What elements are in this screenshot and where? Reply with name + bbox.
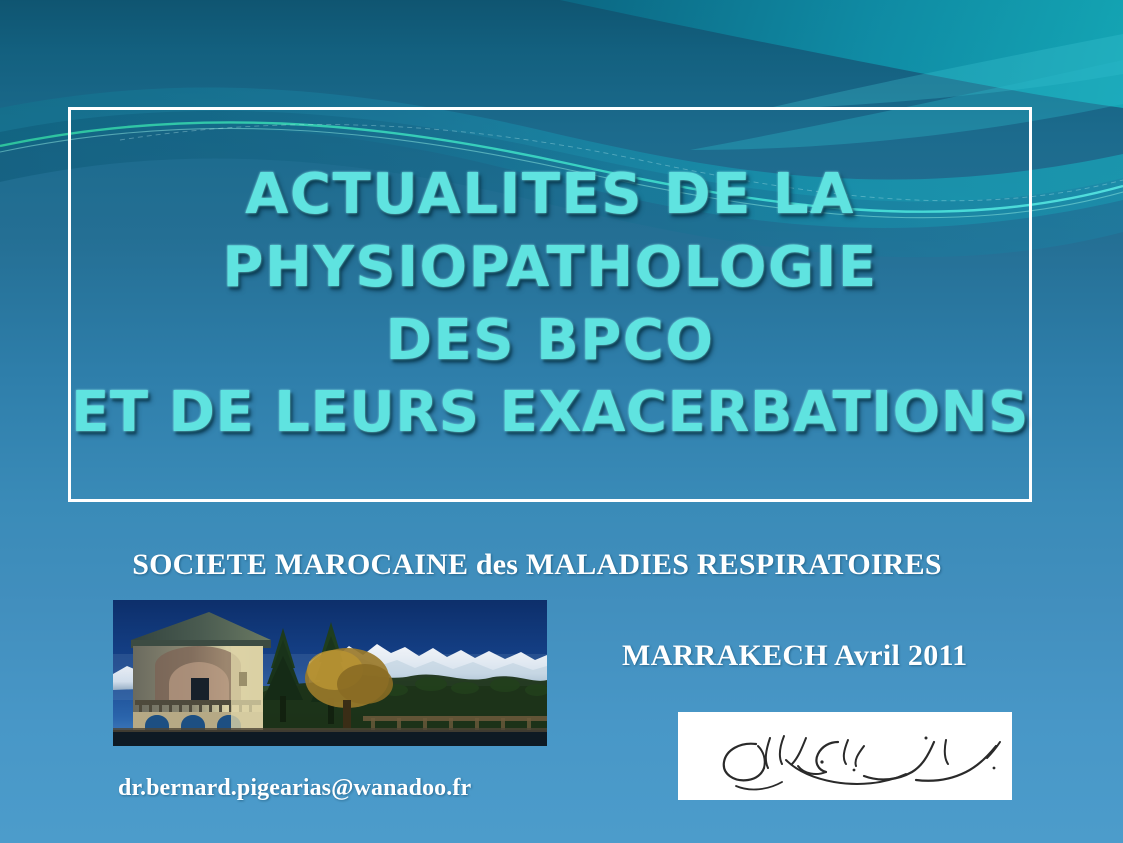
wave-shape-top-right [560, 0, 1123, 108]
arabic-signature-box [678, 712, 1012, 800]
title-frame: ACTUALITES DE LA PHYSIOPATHOLOGIE DES BP… [68, 107, 1032, 502]
contact-email: dr.bernard.pigearias@wanadoo.fr [118, 775, 471, 802]
title-line-3: DES BPCO [386, 305, 715, 378]
society-name: SOCIETE MAROCAINE des MALADIES RESPIRATO… [0, 548, 1074, 582]
wave-shape-right-highlight [760, 34, 1123, 110]
title-line-4: ET DE LEURS EXACERBATIONS [71, 377, 1029, 450]
marrakech-photo [113, 600, 547, 746]
arabic-signature-graphic [678, 712, 1012, 800]
title-line-1: ACTUALITES DE LA [245, 159, 855, 232]
location-date: MARRAKECH Avril 2011 [622, 639, 967, 673]
title-line-2: PHYSIOPATHOLOGIE [222, 232, 877, 305]
marrakech-photo-graphic [113, 600, 547, 746]
presentation-title-slide: ACTUALITES DE LA PHYSIOPATHOLOGIE DES BP… [0, 0, 1123, 843]
